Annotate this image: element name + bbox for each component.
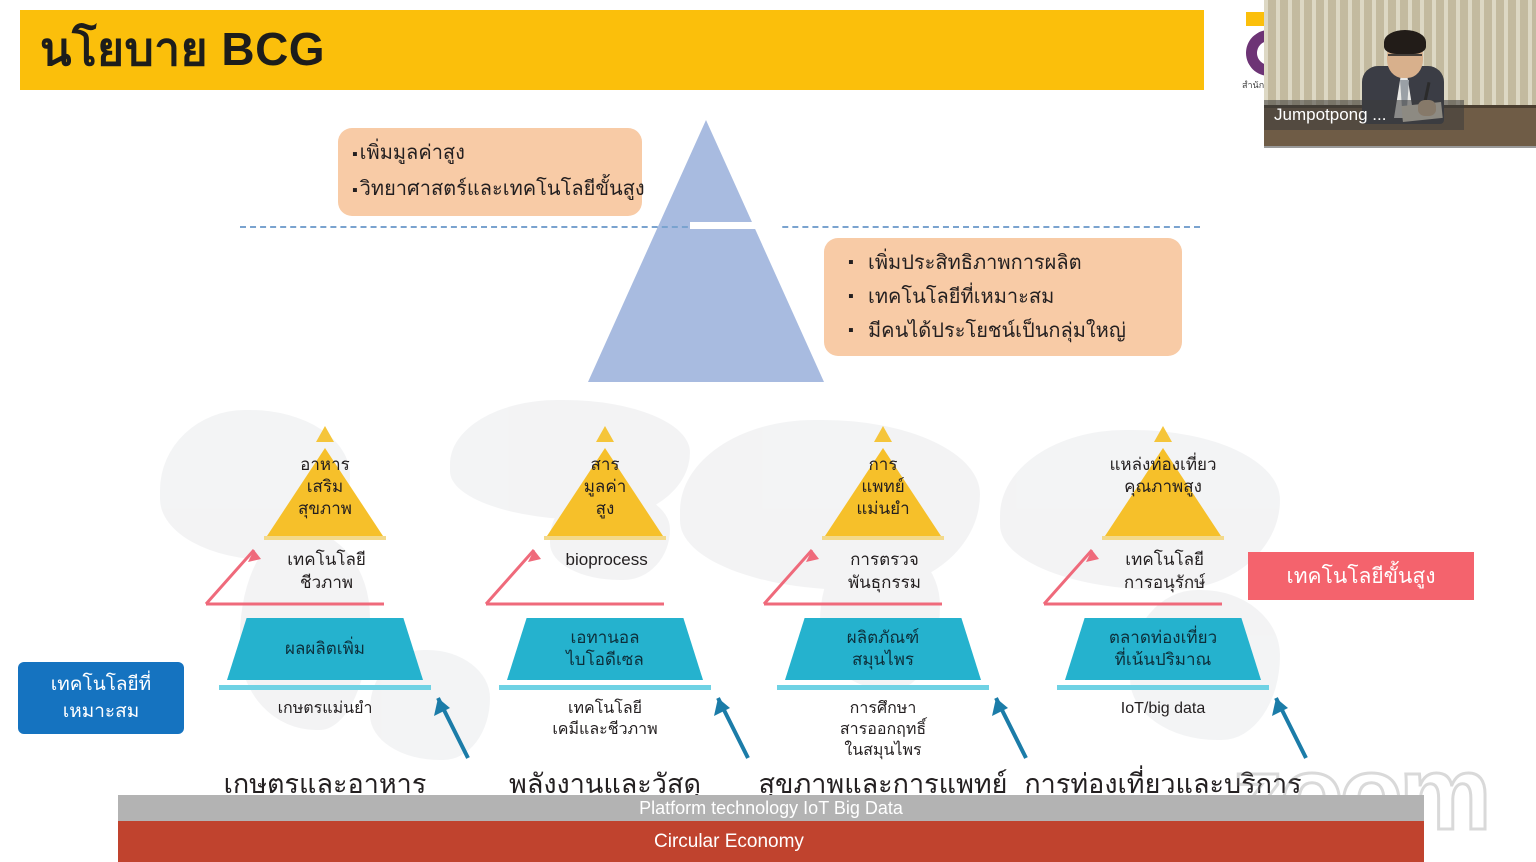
enabler-technology-label: เทคโนโลยี ชีวภาพ: [287, 548, 366, 594]
foundation-technology-label: การศึกษา สารออกฤทธิ์ ในสมุนไพร: [840, 698, 926, 761]
base-tier-underline: [499, 685, 711, 690]
base-tier-underline: [1057, 685, 1269, 690]
glasses-icon: [1388, 54, 1422, 62]
foundation-technology-label: เกษตรแม่นยำ: [278, 698, 373, 719]
base-tier-underline: [219, 685, 431, 690]
base-tier-label: ผลผลิตเพิ่ม: [285, 638, 365, 660]
marker-triangle-icon: [316, 426, 334, 442]
base-tier-trapezoid: ผลิตภัณฑ์ สมุนไพร: [785, 618, 981, 680]
enabler-technology-label: เทคโนโลยี การอนุรักษ์: [1124, 548, 1205, 594]
top-tier-base: [264, 536, 386, 540]
foundation-technology-label: เทคโนโลยี เคมีและชีวภาพ: [552, 698, 657, 740]
callout-top-item-2: วิทยาศาสตร์และเทคโนโลยีขั้นสูง: [352, 172, 628, 208]
slide-title-banner: นโยบาย BCG: [20, 10, 1204, 90]
marker-triangle-icon: [596, 426, 614, 442]
base-tier-trapezoid: ตลาดท่องเที่ยว ที่เน้นปริมาณ: [1065, 618, 1261, 680]
base-tier-label: เอทานอล ไบโอดีเซล: [566, 627, 644, 671]
callout-right-item-1: เพิ่มประสิทธิภาพการผลิต: [838, 246, 1168, 280]
speaker-hair: [1384, 30, 1426, 54]
sector-column-tourism: แหล่งท่องเที่ยว คุณภาพสูง เทคโนโลยี การอ…: [1018, 420, 1308, 800]
top-tier-label: อาหาร เสริม สุขภาพ: [298, 454, 352, 520]
base-tier-trapezoid: เอทานอล ไบโอดีเซล: [507, 618, 703, 680]
top-tier-label: สาร มูลค่า สูง: [584, 454, 627, 520]
base-tier-trapezoid: ผลผลิตเพิ่ม: [227, 618, 423, 680]
badge-blue-line-1: เทคโนโลยีที่: [51, 671, 151, 698]
base-tier-underline: [777, 685, 989, 690]
base-tier-label: ผลิตภัณฑ์ สมุนไพร: [847, 627, 920, 671]
enabler-technology-label: bioprocess: [566, 548, 648, 571]
foundation-bar-circular-label: Circular Economy: [654, 831, 804, 853]
webcam-thumbnail[interactable]: Jumpotpong ...: [1264, 0, 1536, 148]
badge-appropriate-technology: เทคโนโลยีที่ เหมาะสม: [18, 662, 184, 734]
callout-mass-technology: เพิ่มประสิทธิภาพการผลิต เทคโนโลยีที่เหมา…: [824, 238, 1182, 356]
participant-name-bar: Jumpotpong ...: [1264, 100, 1464, 130]
enabler-technology-label: การตรวจ พันธุกรรม: [848, 548, 921, 594]
growth-arrow-icon: [1266, 688, 1312, 760]
tier-divider-gap: [690, 222, 782, 229]
callout-high-value: เพิ่มมูลค่าสูง วิทยาศาสตร์และเทคโนโลยีขั…: [338, 128, 642, 216]
participant-name: Jumpotpong ...: [1264, 105, 1386, 125]
callout-right-item-2: เทคโนโลยีที่เหมาะสม: [838, 280, 1168, 314]
slide-canvas: นโยบาย BCG สำนักงาน เพิ่มมูลค่าสูง วิทยา…: [0, 0, 1536, 862]
base-tier-label: ตลาดท่องเที่ยว ที่เน้นปริมาณ: [1109, 627, 1217, 671]
marker-triangle-icon: [874, 426, 892, 442]
badge-red-label: เทคโนโลยีขั้นสูง: [1287, 560, 1436, 593]
foundation-bar-platform: Platform technology IoT Big Data: [118, 795, 1424, 821]
foundation-bar-platform-label: Platform technology IoT Big Data: [639, 798, 903, 819]
sector-column-health: การ แพทย์ แม่นยำ การตรวจ พันธุกรรม ผลิตภ…: [738, 420, 1028, 800]
sector-column-agriculture: อาหาร เสริม สุขภาพ เทคโนโลยี ชีวภาพ ผลผล…: [180, 420, 470, 800]
sector-column-energy: สาร มูลค่า สูง bioprocess เอทานอล ไบโอดี…: [460, 420, 750, 800]
callout-top-item-1: เพิ่มมูลค่าสูง: [352, 136, 628, 172]
top-tier-base: [822, 536, 944, 540]
foundation-bar-circular-economy: Circular Economy: [118, 821, 1424, 862]
badge-blue-line-2: เหมาะสม: [51, 698, 151, 725]
marker-triangle-icon: [1154, 426, 1172, 442]
callout-right-item-3: มีคนได้ประโยชน์เป็นกลุ่มใหญ่: [838, 314, 1168, 348]
top-tier-base: [544, 536, 666, 540]
top-tier-base: [1102, 536, 1224, 540]
badge-advanced-technology: เทคโนโลยีขั้นสูง: [1248, 552, 1474, 600]
top-tier-label: การ แพทย์ แม่นยำ: [856, 454, 909, 520]
foundation-technology-label: IoT/big data: [1121, 698, 1206, 719]
page-title: นโยบาย BCG: [40, 18, 325, 80]
top-tier-label: แหล่งท่องเที่ยว คุณภาพสูง: [1109, 454, 1216, 498]
